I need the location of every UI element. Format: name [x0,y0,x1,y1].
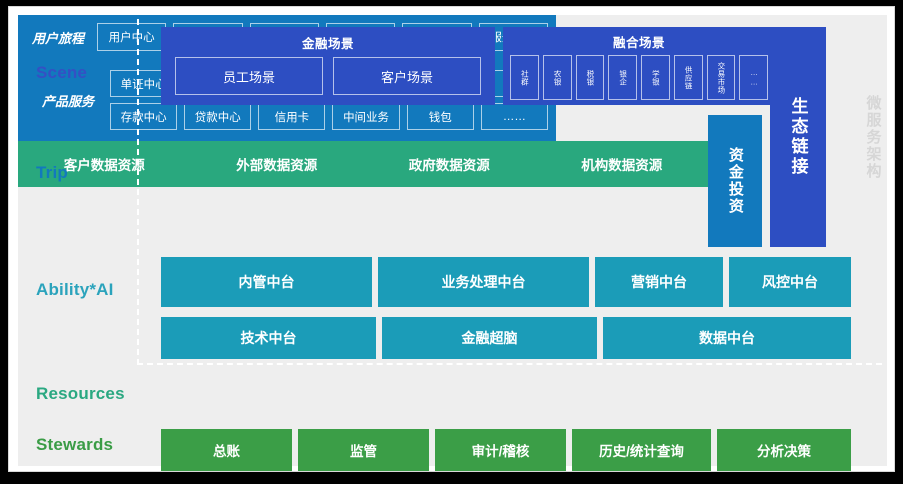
trip-journey-title: 用户旅程 [26,28,90,47]
ability-technology-platform[interactable]: 技术中台 [161,317,376,359]
scene-item-employee[interactable]: 员工场景 [175,57,323,95]
product-item-intermediary-business[interactable]: 中间业务 [332,103,399,130]
product-item-wallet[interactable]: 钱包 [407,103,474,130]
row-label-trip: Trip [36,163,136,183]
diagram-canvas: Scene Trip Ability*AI Resources Stewards… [18,15,887,466]
steward-general-ledger[interactable]: 总账 [161,429,292,471]
row-label-stewards: Stewards [36,435,136,455]
row-label-ability: Ability*AI [36,280,136,300]
fusion-chip-tax-bank[interactable]: 税银 [576,55,605,100]
fusion-chip-supply-chain[interactable]: 供应链 [674,55,703,100]
resource-government-data[interactable]: 政府数据资源 [363,154,536,174]
fusion-chip-bank-enterprise[interactable]: 银企 [608,55,637,100]
product-item-credit-card[interactable]: 信用卡 [258,103,325,130]
fusion-chip-trading-market[interactable]: 交易市场 [707,55,736,100]
microservice-architecture-label: 微服务架构 [856,27,890,247]
eco-link-column[interactable]: 生态链接 [770,27,826,247]
scene-fusion-title: 融合场景 [503,27,775,51]
row-label-scene: Scene [36,63,136,83]
product-item-more[interactable]: …… [481,103,548,130]
scene-financial-group: 金融场景 员工场景 客户场景 [161,27,495,105]
ability-data-platform[interactable]: 数据中台 [603,317,851,359]
product-item-loan-center[interactable]: 贷款中心 [184,103,251,130]
steward-audit-inspection[interactable]: 审计/稽核 [435,429,566,471]
fusion-chip-more[interactable]: …… [739,55,768,100]
resource-external-data[interactable]: 外部数据资源 [191,154,364,174]
ability-business-processing-platform[interactable]: 业务处理中台 [378,257,589,307]
scene-fusion-items: 社群 农银 税银 银企 学银 供应链 交易市场 …… [503,51,775,100]
scene-financial-items: 员工场景 客户场景 [161,52,495,95]
steward-supervision[interactable]: 监管 [298,429,429,471]
fusion-chip-agri-bank[interactable]: 农银 [543,55,572,100]
fusion-chip-community[interactable]: 社群 [510,55,539,100]
fusion-chip-school-bank[interactable]: 学银 [641,55,670,100]
ability-financial-brain[interactable]: 金融超脑 [382,317,597,359]
steward-history-statistics-query[interactable]: 历史/统计查询 [572,429,711,471]
ability-marketing-platform[interactable]: 营销中台 [595,257,723,307]
fund-investment-column[interactable]: 资金投资 [708,115,762,247]
steward-analysis-decision[interactable]: 分析决策 [717,429,851,471]
journey-item-user-center[interactable]: 用户中心 [97,23,166,51]
ability-internal-management-platform[interactable]: 内管中台 [161,257,372,307]
trip-product-title: 产品服务 [26,91,110,110]
row-label-resources: Resources [36,384,136,404]
scene-fusion-group: 融合场景 社群 农银 税银 银企 学银 供应链 交易市场 …… [503,27,775,105]
product-item-deposit-center[interactable]: 存款中心 [110,103,177,130]
diagram-frame: Scene Trip Ability*AI Resources Stewards… [8,6,895,472]
scene-financial-title: 金融场景 [161,27,495,52]
resource-institutional-data[interactable]: 机构数据资源 [536,154,709,174]
scene-item-customer[interactable]: 客户场景 [333,57,481,95]
ability-risk-control-platform[interactable]: 风控中台 [729,257,851,307]
